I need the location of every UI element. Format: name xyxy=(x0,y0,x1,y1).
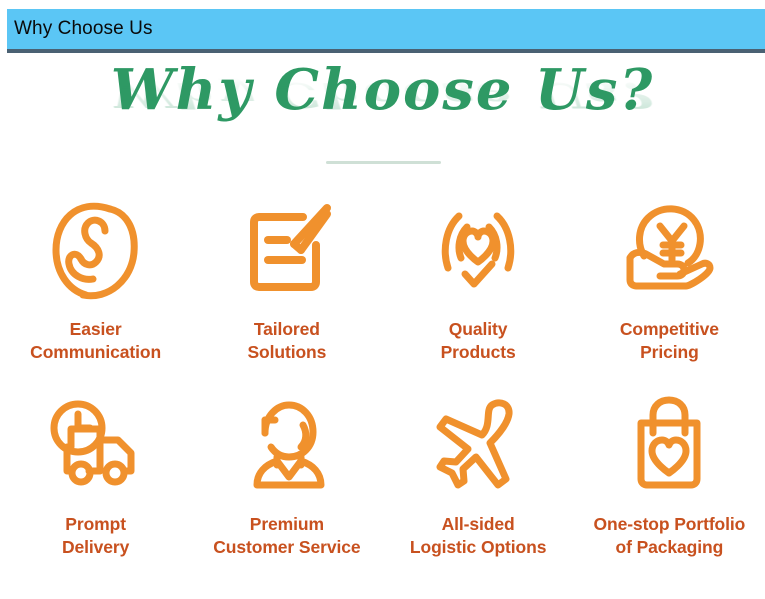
feature-item-one-stop-portfolio-of-packaging[interactable]: One-stop Portfolio of Packaging xyxy=(574,391,765,560)
feature-label-line1: Premium xyxy=(250,514,324,534)
feature-item-premium-customer-service[interactable]: Premium Customer Service xyxy=(191,391,382,560)
hero-title-block: Why Choose Us? Why Choose Us? xyxy=(0,62,765,172)
feature-label-line1: Prompt xyxy=(65,514,126,534)
feature-label-line2: Pricing xyxy=(620,341,719,364)
feature-label-line2: Delivery xyxy=(62,536,129,559)
feature-label-line2: Solutions xyxy=(247,341,326,364)
delivery-truck-clock-icon xyxy=(45,391,147,499)
feature-item-prompt-delivery[interactable]: Prompt Delivery xyxy=(0,391,191,560)
feature-label: Premium Customer Service xyxy=(213,513,360,560)
feature-label-line1: One-stop Portfolio xyxy=(593,514,745,534)
feature-label: Competitive Pricing xyxy=(620,318,719,365)
feature-label-line2: of Packaging xyxy=(593,536,745,559)
shopping-bag-heart-icon xyxy=(621,391,717,499)
feature-label: All-sided Logistic Options xyxy=(410,513,546,560)
headset-agent-icon xyxy=(239,391,335,499)
feature-label-line2: Products xyxy=(441,341,516,364)
feature-item-competitive-pricing[interactable]: Competitive Pricing xyxy=(574,196,765,365)
feature-label-line1: Competitive xyxy=(620,319,719,339)
heart-check-signal-icon xyxy=(432,196,524,304)
feature-label-line2: Logistic Options xyxy=(410,536,546,559)
feature-label: Prompt Delivery xyxy=(62,513,129,560)
page-title: Why Choose Us xyxy=(7,18,153,40)
feature-label-line2: Communication xyxy=(30,341,161,364)
airplane-icon xyxy=(430,391,526,499)
feature-item-all-sided-logistic-options[interactable]: All-sided Logistic Options xyxy=(383,391,574,560)
feature-label-line1: Quality xyxy=(449,319,508,339)
feature-label: Tailored Solutions xyxy=(247,318,326,365)
feature-label-line1: Tailored xyxy=(254,319,320,339)
feature-item-tailored-solutions[interactable]: Tailored Solutions xyxy=(191,196,382,365)
feature-label-line1: All-sided xyxy=(442,514,515,534)
window-header-bar: Why Choose Us xyxy=(7,9,765,53)
document-edit-icon xyxy=(241,196,333,304)
feature-label: One-stop Portfolio of Packaging xyxy=(593,513,745,560)
feature-label: Quality Products xyxy=(441,318,516,365)
hero-script-wrapper: Why Choose Us? Why Choose Us? xyxy=(111,62,654,168)
hero-title-text: Why Choose Us? xyxy=(111,62,654,118)
feature-item-easier-communication[interactable]: Easier Communication xyxy=(0,196,191,365)
feature-item-quality-products[interactable]: Quality Products xyxy=(383,196,574,365)
feature-label: Easier Communication xyxy=(30,318,161,365)
hand-holding-yen-coin-icon xyxy=(620,196,718,304)
feature-grid: Easier Communication Tailored Solutions xyxy=(0,196,765,559)
hero-divider xyxy=(326,161,441,164)
feature-label-line2: Customer Service xyxy=(213,536,360,559)
feature-label-line1: Easier xyxy=(70,319,122,339)
feature-row-2: Prompt Delivery Premium Cu xyxy=(0,391,765,560)
feature-row-1: Easier Communication Tailored Solutions xyxy=(0,196,765,365)
ear-in-circle-icon xyxy=(50,196,142,304)
